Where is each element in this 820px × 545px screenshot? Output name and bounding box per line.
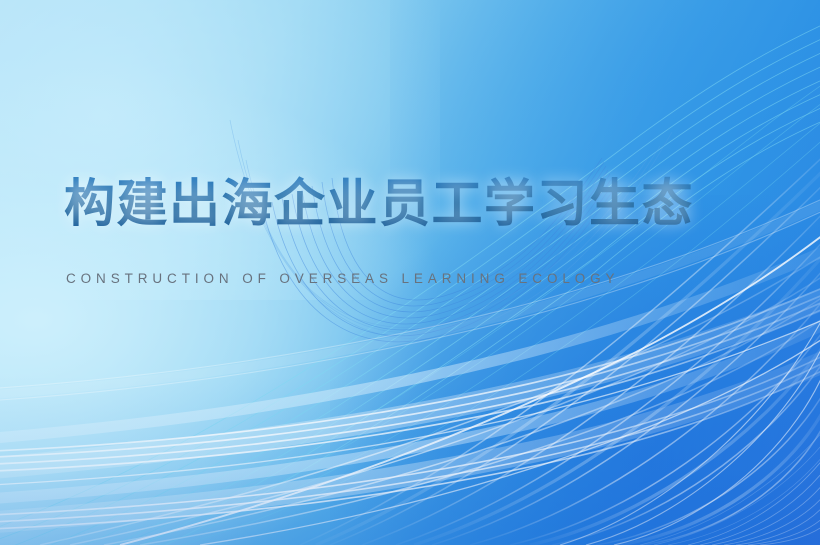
background-wash-left bbox=[0, 60, 440, 545]
banner-title: 构建出海企业员工学习生态 bbox=[64, 176, 764, 233]
banner: 构建出海企业员工学习生态 构建出海企业员工学习生态 CONSTRUCTION O… bbox=[0, 0, 820, 545]
title-wrapper: 构建出海企业员工学习生态 构建出海企业员工学习生态 bbox=[64, 176, 764, 233]
banner-subtitle: CONSTRUCTION OF OVERSEAS LEARNING ECOLOG… bbox=[66, 271, 764, 286]
text-block: 构建出海企业员工学习生态 构建出海企业员工学习生态 CONSTRUCTION O… bbox=[64, 176, 764, 286]
bottom-vignette bbox=[0, 375, 820, 545]
